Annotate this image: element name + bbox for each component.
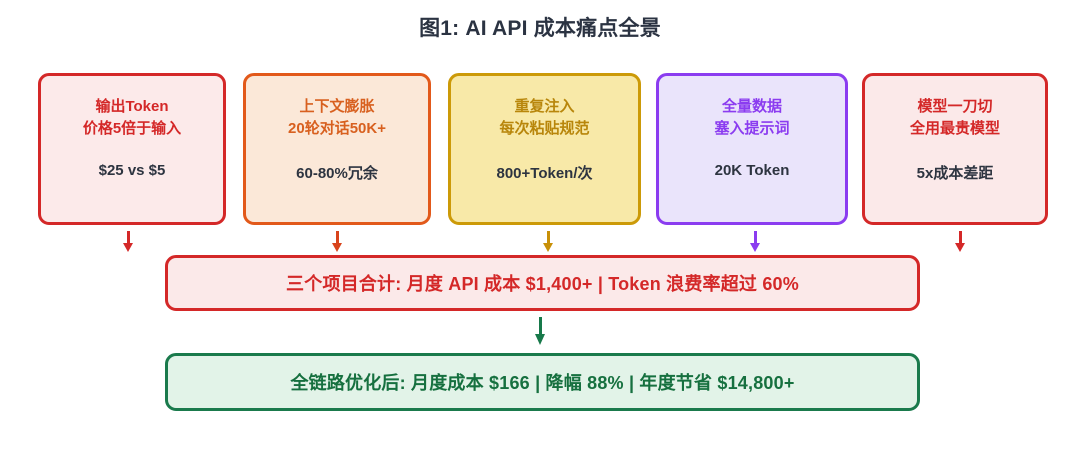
pain-card-heading: 重复注入 每次粘贴规范	[499, 96, 589, 140]
arrow-down-icon	[954, 231, 966, 255]
pain-card-heading-line2: 全用最贵模型	[910, 118, 1000, 140]
pain-card-context-bloat: 上下文膨胀 20轮对话50K+ 60-80%冗余	[243, 73, 431, 225]
arrow-down-icon	[122, 231, 134, 255]
arrow-down-icon	[749, 231, 761, 255]
arrow-head	[955, 243, 965, 252]
pain-card-metric: $25 vs $5	[99, 162, 166, 179]
arrow-down-icon	[542, 231, 554, 255]
pain-card-repeated-injection: 重复注入 每次粘贴规范 800+Token/次	[448, 73, 641, 225]
pain-card-metric: 5x成本差距	[917, 162, 994, 183]
pain-card-output-token-price: 输出Token 价格5倍于输入 $25 vs $5	[38, 73, 226, 225]
arrow-head	[750, 243, 760, 252]
pain-card-heading: 上下文膨胀 20轮对话50K+	[288, 96, 386, 140]
arrow-head	[535, 334, 545, 345]
pain-card-metric: 60-80%冗余	[296, 162, 378, 183]
pain-card-metric: 800+Token/次	[496, 162, 592, 183]
arrow-head	[123, 243, 133, 252]
pain-card-heading-line1: 全量数据	[714, 96, 789, 118]
pain-card-heading-line1: 模型一刀切	[910, 96, 1000, 118]
pain-card-heading: 全量数据 塞入提示词	[714, 96, 789, 140]
arrow-head	[332, 243, 342, 252]
result-text: 全链路优化后: 月度成本 $166 | 降幅 88% | 年度节省 $14,80…	[290, 369, 794, 395]
arrow-down-icon	[534, 317, 546, 347]
arrow-down-icon	[331, 231, 343, 255]
result-bar: 全链路优化后: 月度成本 $166 | 降幅 88% | 年度节省 $14,80…	[165, 353, 920, 411]
pain-card-heading: 模型一刀切 全用最贵模型	[910, 96, 1000, 140]
pain-card-heading-line1: 重复注入	[499, 96, 589, 118]
page-title: 图1: AI API 成本痛点全景	[0, 12, 1080, 42]
pain-card-heading-line2: 价格5倍于输入	[83, 118, 181, 140]
pain-card-heading-line1: 输出Token	[83, 96, 181, 118]
pain-card-metric: 20K Token	[715, 162, 790, 179]
diagram-canvas: 图1: AI API 成本痛点全景 输出Token 价格5倍于输入 $25 vs…	[0, 0, 1080, 450]
pain-card-heading-line2: 每次粘贴规范	[499, 118, 589, 140]
pain-card-one-size-fits-all-model: 模型一刀切 全用最贵模型 5x成本差距	[862, 73, 1048, 225]
summary-bar: 三个项目合计: 月度 API 成本 $1,400+ | Token 浪费率超过 …	[165, 255, 920, 311]
pain-card-heading-line1: 上下文膨胀	[288, 96, 386, 118]
arrow-head	[543, 243, 553, 252]
summary-text: 三个项目合计: 月度 API 成本 $1,400+ | Token 浪费率超过 …	[286, 270, 799, 296]
pain-card-full-data-in-prompt: 全量数据 塞入提示词 20K Token	[656, 73, 848, 225]
pain-card-heading: 输出Token 价格5倍于输入	[83, 96, 181, 140]
pain-card-heading-line2: 塞入提示词	[714, 118, 789, 140]
pain-card-heading-line2: 20轮对话50K+	[288, 118, 386, 140]
